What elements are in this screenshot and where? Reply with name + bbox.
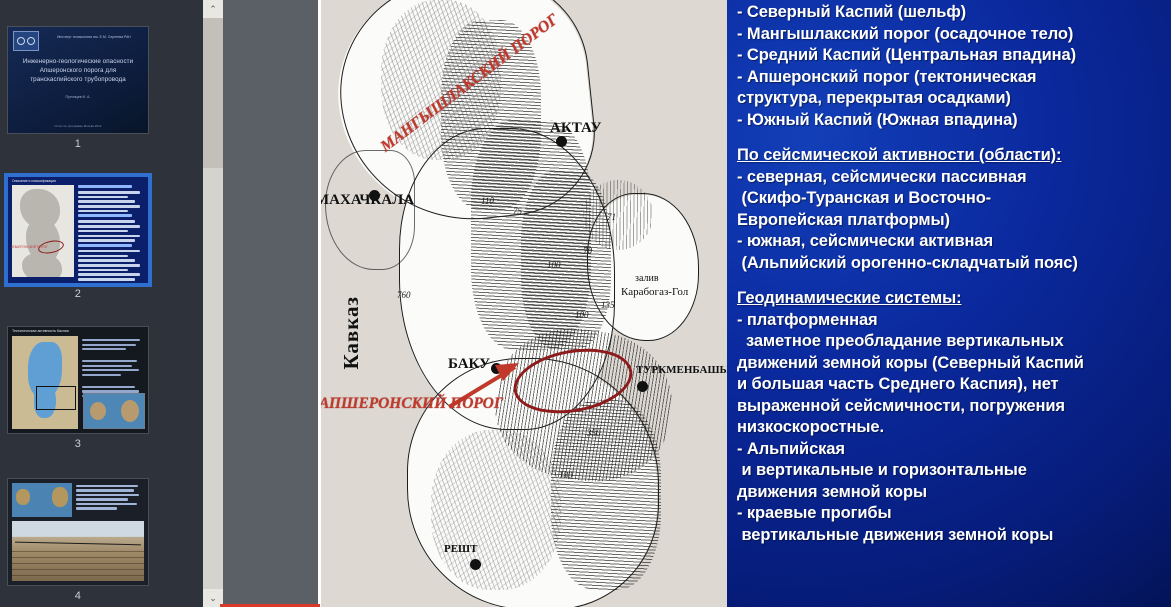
slide1-organization: Институт геоэкологии им. Е.М. Сергеева Р…: [44, 35, 144, 40]
slide-thumbnail-2[interactable]: Описание и классификация АПШЕРОНСКИЙ ПОР…: [7, 176, 149, 304]
text-line: - Альпийская: [737, 439, 1163, 461]
current-slide: 110 75 100 70 100 135 350 180 760 71 МАН…: [318, 0, 1171, 607]
depth-mark: 100: [575, 310, 589, 320]
text-line: вертикальные движения земной коры: [737, 525, 1163, 547]
slide-text-panel: - Северный Каспий (шельф)- Мангышлакский…: [727, 0, 1171, 607]
text-spacer: [737, 274, 1163, 288]
text-line: - Северный Каспий (шельф): [737, 2, 1163, 24]
text-heading: По сейсмической активности (области):: [737, 145, 1163, 167]
slide-thumbnail-1[interactable]: Институт геоэкологии им. Е.М. Сергеева Р…: [7, 26, 149, 154]
slide-thumbnail-2-preview[interactable]: Описание и классификация АПШЕРОНСКИЙ ПОР…: [7, 176, 149, 284]
slide-thumbnail-4-preview[interactable]: [7, 478, 149, 586]
text-line: - краевые прогибы: [737, 503, 1163, 525]
chevron-up-icon: ⌃: [209, 5, 217, 14]
depth-mark: 350: [587, 428, 601, 438]
slide1-footer: Отчет по программе Москва 2012: [18, 124, 138, 128]
coastline-kara-bogaz-bay: [587, 193, 699, 341]
text-line: - Средний Каспий (Центральная впадина): [737, 45, 1163, 67]
slide-text-lines: - Северный Каспий (шельф)- Мангышлакский…: [737, 2, 1163, 546]
slide4-top-image: [12, 483, 72, 517]
text-line: - Мангышлакский порог (осадочное тело): [737, 24, 1163, 46]
text-line: низкоскоростные.: [737, 417, 1163, 439]
caspian-sea-map: 110 75 100 70 100 135 350 180 760 71 МАН…: [318, 0, 727, 607]
text-line: - Южный Каспий (Южная впадина): [737, 110, 1163, 132]
slide2-text-lines: [78, 185, 145, 279]
text-line: и большая часть Среднего Каспия), нет: [737, 374, 1163, 396]
depth-mark: 180: [559, 470, 573, 480]
slide3-inset-image: [83, 393, 145, 429]
scroll-up-button[interactable]: ⌃: [203, 0, 223, 18]
text-line: - платформенная: [737, 310, 1163, 332]
depth-mark: 75: [513, 206, 522, 216]
slide-thumbnail-sidebar[interactable]: Институт геоэкологии им. Е.М. Сергеева Р…: [0, 0, 203, 607]
text-line: (Скифо-Туранская и Восточно-: [737, 188, 1163, 210]
depth-mark: 760: [397, 290, 411, 300]
slide3-header: Тектоническая активность Каспия: [12, 329, 69, 333]
text-line: движения земной коры: [737, 482, 1163, 504]
city-label-makhachkala: МАХАЧКАЛА: [318, 192, 414, 209]
text-line: и вертикальные и горизонтальные: [737, 460, 1163, 482]
depth-mark: 71: [607, 212, 616, 222]
text-line: выраженной сейсмичности, погружения: [737, 396, 1163, 418]
text-line: структура, перекрытая осадками): [737, 88, 1163, 110]
slide3-selection-box: [36, 386, 76, 410]
slide-thumbnail-1-preview[interactable]: Институт геоэкологии им. Е.М. Сергеева Р…: [7, 26, 149, 134]
text-line: Европейская платформы): [737, 210, 1163, 232]
slide-number-2: 2: [7, 284, 149, 304]
bay-label-line2: Карабогаз-Гол: [621, 286, 688, 299]
slide-thumbnail-3-preview[interactable]: Тектоническая активность Каспия: [7, 326, 149, 434]
text-spacer: [737, 131, 1163, 145]
depth-mark: 135: [601, 300, 615, 310]
text-heading: Геодинамические системы:: [737, 288, 1163, 310]
slide-number-3: 3: [7, 434, 149, 454]
city-label-rasht: РЕШТ: [444, 543, 477, 555]
slide3-caspian-map: [12, 336, 78, 429]
slide2-header: Описание и классификация: [12, 179, 56, 183]
text-line: движений земной коры (Северный Каспий: [737, 353, 1163, 375]
slide1-author: Путинцев И. А.: [18, 95, 138, 100]
institute-logo-icon: [13, 31, 39, 51]
apsheron-sill-label: АПШЕРОНСКИЙ ПОРОГ: [319, 395, 503, 413]
text-line: заметное преобладание вертикальных: [737, 331, 1163, 353]
text-line: - южная, сейсмически активная: [737, 231, 1163, 253]
text-line: - Апшеронский порог (тектоническая: [737, 67, 1163, 89]
city-dot-turkmenbashy: [637, 381, 648, 392]
slide2-map-image: [12, 185, 74, 277]
bay-label-line1: залив: [635, 272, 659, 285]
slide4-text-lines: [76, 485, 145, 512]
sidebar-bottom-edge: [0, 603, 203, 607]
slide-thumbnail-3[interactable]: Тектоническая активность Каспия: [7, 326, 149, 454]
text-line: - северная, сейсмически пассивная: [737, 167, 1163, 189]
slide-number-1: 1: [7, 134, 149, 154]
slide1-title: Инженерно-геологические опасности Апшеро…: [14, 57, 142, 84]
city-label-turkmenbashy: ТУРКМЕНБАШЫ: [636, 364, 727, 376]
city-dot-aktau: [556, 136, 567, 147]
presentation-window: Институт геоэкологии им. Е.М. Сергеева Р…: [0, 0, 1171, 607]
city-label-aktau: АКТАУ: [550, 120, 602, 137]
depth-mark: 70: [583, 246, 592, 256]
scroll-column: ⌃ ⌄: [203, 0, 318, 607]
slide-gutter: [223, 0, 318, 607]
depth-mark: 100: [547, 260, 561, 270]
coastline-west-rivers: [325, 150, 415, 270]
chevron-down-icon: ⌄: [209, 594, 217, 603]
city-dot-rasht: [470, 559, 481, 570]
depth-mark: 110: [481, 196, 494, 206]
slide2-red-label: АПШЕРОНСКИЙ ПОРОГ: [11, 245, 48, 249]
slide3-text-lines: [82, 339, 145, 400]
caucasus-label: Кавказ: [339, 296, 364, 370]
scrollbar-thumb[interactable]: [203, 18, 223, 168]
slide-thumbnail-4[interactable]: 4: [7, 478, 149, 606]
vertical-scrollbar[interactable]: ⌃ ⌄: [203, 0, 223, 607]
text-line: (Альпийский орогенно-складчатый пояс): [737, 253, 1163, 275]
slide4-seismic-section: [12, 521, 144, 581]
